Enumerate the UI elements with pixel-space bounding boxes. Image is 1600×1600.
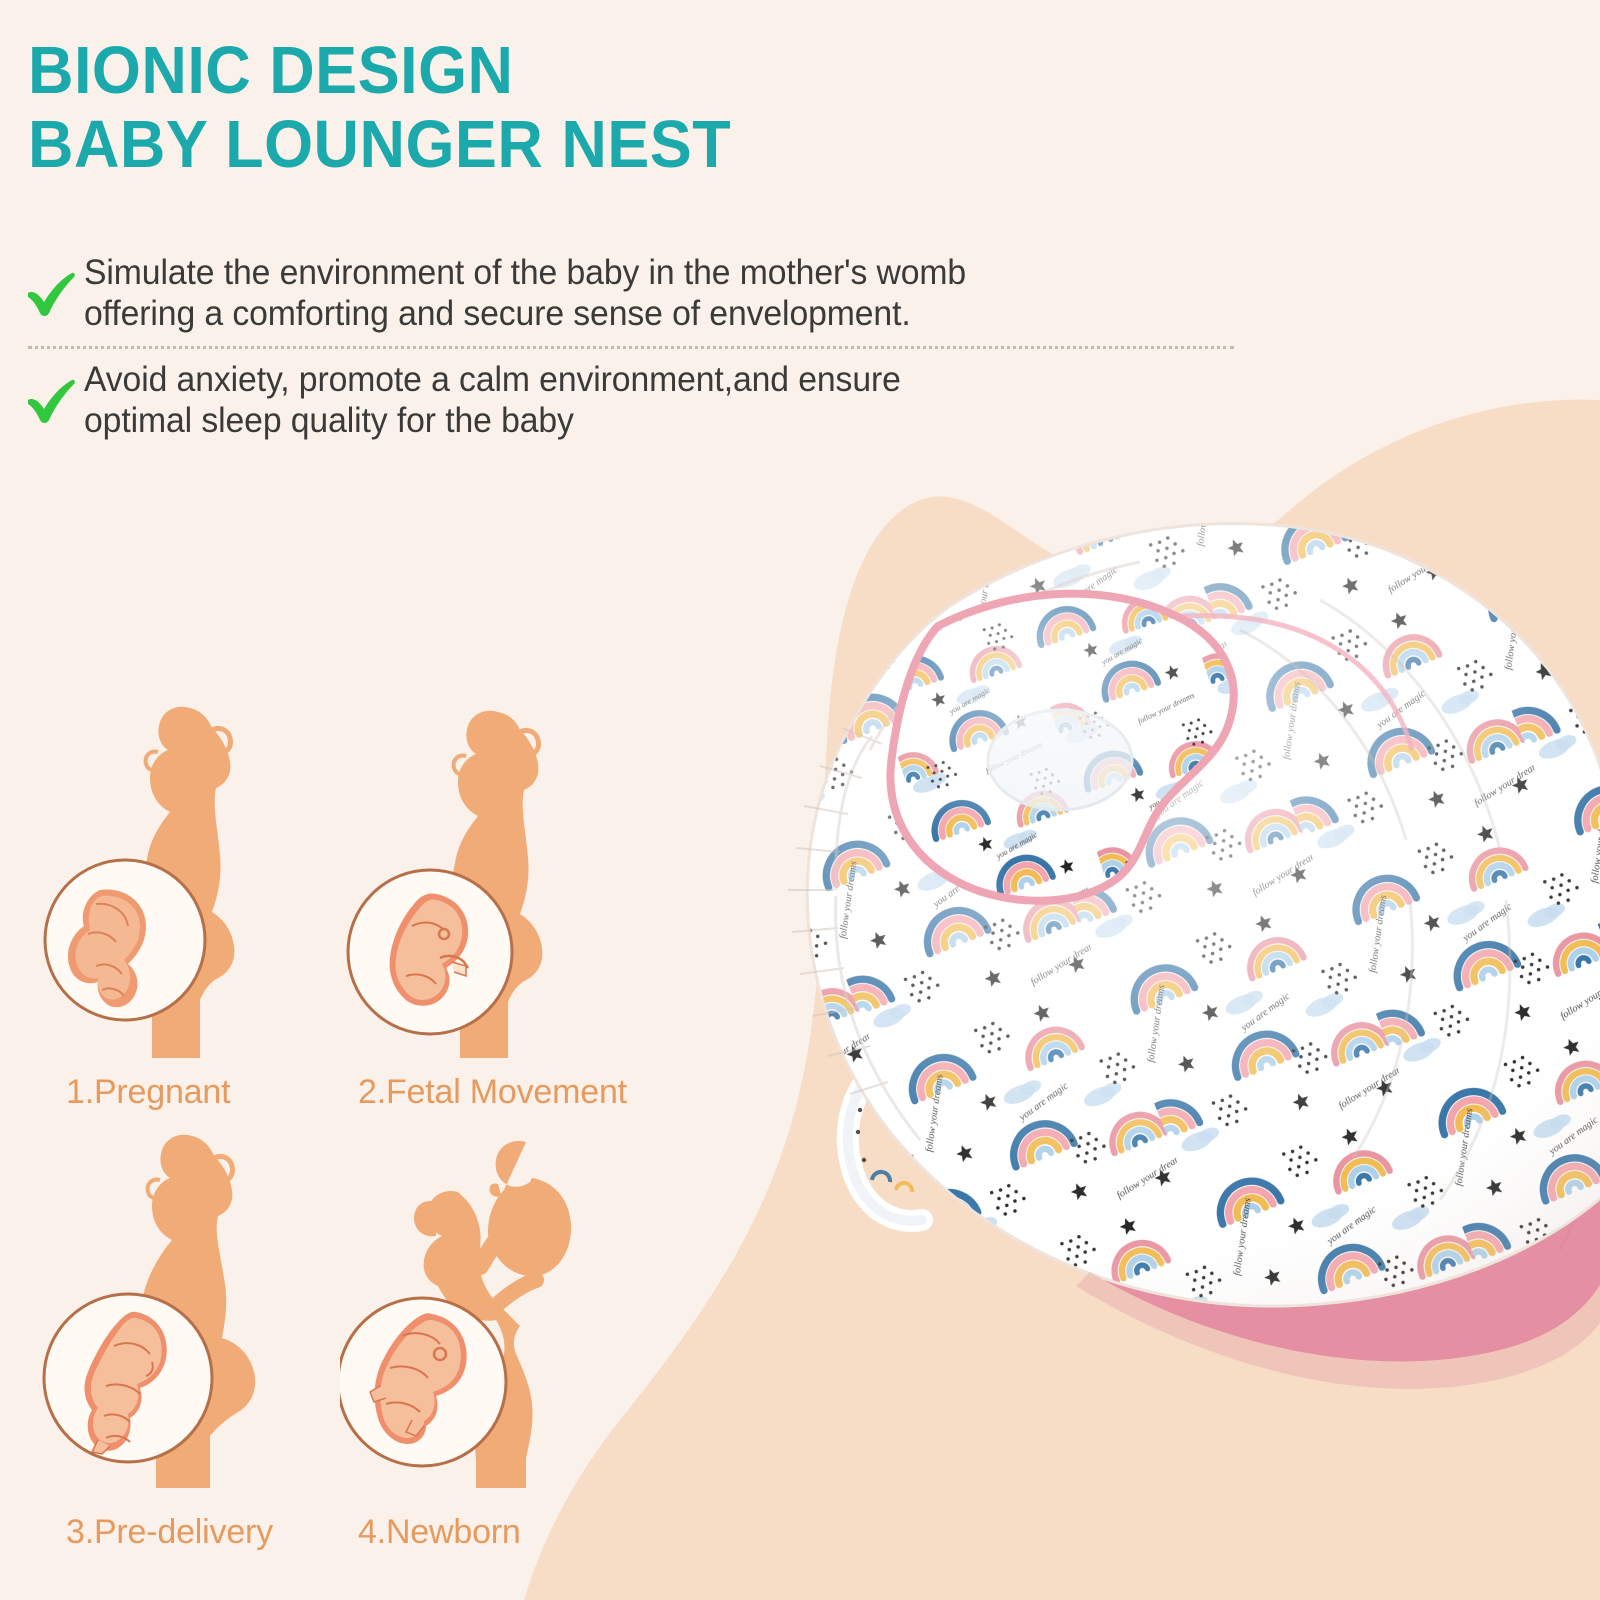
feature-bullet-list: Simulate the environment of the baby in … xyxy=(24,252,1324,441)
title-line-2: BABY LOUNGER NEST xyxy=(28,108,1062,182)
page-title: BIONIC DESIGN BABY LOUNGER NEST xyxy=(28,34,1128,182)
pregnancy-stage-1: 1.Pregnant xyxy=(40,690,340,1120)
feature-bullet-1-line-1: Simulate the environment of the baby in … xyxy=(84,252,966,292)
pregnant-silhouette-fetus-icon xyxy=(340,690,640,1060)
baby-lounger-nest-photo: you are magic follow your dreams follow … xyxy=(620,420,1600,1420)
pregnancy-stage-2: 2.Fetal Movement xyxy=(340,690,640,1120)
pregnancy-stage-row-top: 1.Pregnant xyxy=(40,690,700,1120)
pregnancy-stage-2-label: 2.Fetal Movement xyxy=(358,1073,627,1112)
bullet-divider xyxy=(28,346,1234,349)
pregnancy-stage-4: 4.Newborn xyxy=(340,1120,640,1560)
pregnancy-stage-1-label: 1.Pregnant xyxy=(66,1073,230,1112)
pregnancy-stage-3-label: 3.Pre-delivery xyxy=(66,1513,273,1552)
feature-bullet-2-line-2: optimal sleep quality for the baby xyxy=(84,400,574,440)
green-check-icon xyxy=(24,265,78,321)
title-line-1: BIONIC DESIGN xyxy=(28,34,1062,108)
mother-lifting-baby-icon xyxy=(340,1120,640,1490)
poster-canvas: BIONIC DESIGN BABY LOUNGER NEST Simulate… xyxy=(0,0,1600,1600)
feature-bullet-2-line-1: Avoid anxiety, promote a calm environmen… xyxy=(84,359,901,399)
pregnancy-stage-grid: 1.Pregnant xyxy=(40,690,700,1560)
feature-bullet-1-text: Simulate the environment of the baby in … xyxy=(84,252,966,334)
pregnancy-stage-row-bottom: 3.Pre-delivery xyxy=(40,1120,700,1560)
pregnancy-stage-4-label: 4.Newborn xyxy=(358,1513,521,1552)
lounger-fabric-body xyxy=(720,460,1600,1380)
pregnant-silhouette-late-fetus-icon xyxy=(40,1120,340,1490)
pregnancy-stage-3: 3.Pre-delivery xyxy=(40,1120,340,1560)
pregnant-silhouette-embryo-icon xyxy=(40,690,340,1060)
green-check-icon xyxy=(24,372,78,428)
feature-bullet-1-line-2: offering a comforting and secure sense o… xyxy=(84,293,911,333)
feature-bullet-1: Simulate the environment of the baby in … xyxy=(24,252,1324,334)
